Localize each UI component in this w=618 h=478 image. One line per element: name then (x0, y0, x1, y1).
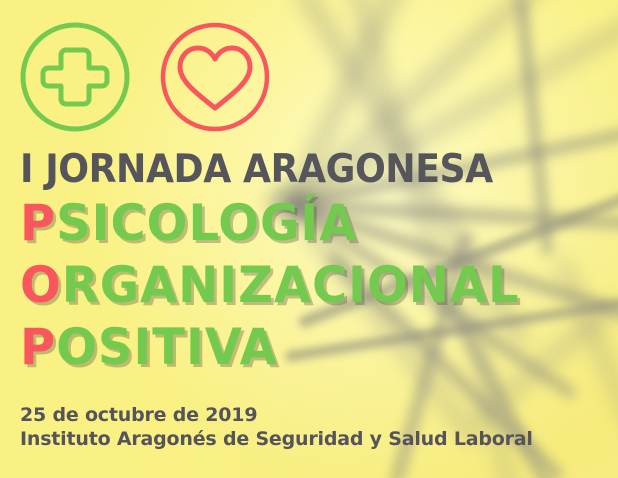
poster-kicker: I JORNADA ARAGONESA (20, 150, 504, 189)
headline-line-organizacional: ORGANIZACIONAL (20, 260, 520, 310)
headline-rest-text: OSITIVA (56, 318, 278, 376)
event-date: 25 de octubre de 2019 (20, 403, 533, 427)
footer-block: 25 de octubre de 2019 Instituto Aragonés… (20, 403, 533, 452)
headline-lead-letter: P (20, 194, 56, 252)
headline-block: I JORNADA ARAGONESA PSICOLOGÍA ORGANIZAC… (20, 150, 540, 384)
icon-row (16, 18, 274, 136)
headline-line-psicologia: PSICOLOGÍA (20, 198, 520, 248)
headline-lead-letter: O (20, 256, 62, 314)
event-poster: I JORNADA ARAGONESA PSICOLOGÍA ORGANIZAC… (0, 0, 618, 478)
plus-in-circle-icon (16, 18, 134, 136)
headline-lead-letter: P (20, 318, 56, 376)
event-venue: Instituto Aragonés de Seguridad y Salud … (20, 427, 533, 451)
headline-line-positiva: POSITIVA (20, 322, 520, 372)
heart-in-circle-icon (156, 18, 274, 136)
headline-rest-text: RGANIZACIONAL (62, 256, 520, 314)
headline-rest-text: SICOLOGÍA (56, 194, 357, 252)
